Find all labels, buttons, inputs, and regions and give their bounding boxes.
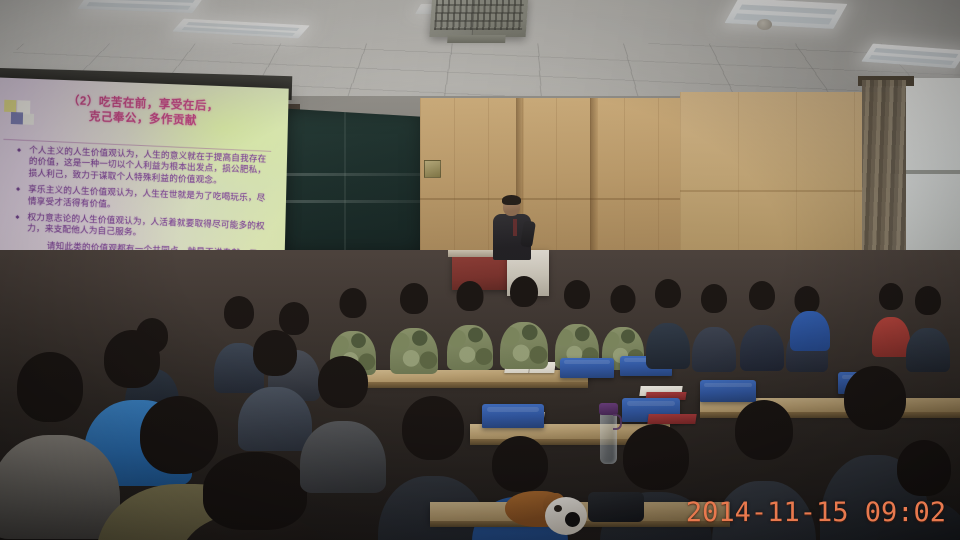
chair xyxy=(560,358,614,378)
student xyxy=(447,281,493,361)
student xyxy=(330,288,376,366)
student xyxy=(906,286,950,362)
student xyxy=(646,279,690,359)
blackboard xyxy=(276,108,424,256)
slide-bullet: 个人主义的人生价值观认为，人生的意义就在于提高自我存在的价值，这是一种一切以个人… xyxy=(14,144,271,188)
student xyxy=(390,283,438,365)
chair xyxy=(482,404,544,428)
student xyxy=(500,276,548,360)
lecturer xyxy=(489,197,535,259)
ceiling-projector xyxy=(430,0,529,37)
student xyxy=(740,281,784,361)
slide-corner-logo xyxy=(2,100,33,129)
folded-dark-garment xyxy=(588,492,644,522)
camera-timestamp: 2014-11-15 09:02 xyxy=(686,497,946,528)
chair xyxy=(700,380,756,402)
student xyxy=(555,280,599,360)
smoke-detector-icon xyxy=(757,19,772,30)
student-blue-jacket xyxy=(790,278,830,338)
slide-title-line-2: 克己奉公，多作贡献 xyxy=(10,107,276,132)
student-red-jacket xyxy=(872,283,910,345)
student xyxy=(602,285,644,361)
plush-dog-toy xyxy=(505,487,591,537)
student xyxy=(300,356,386,474)
student xyxy=(692,284,736,362)
slide-bullet: 享乐主义的人生价值观认为，人生在世就是为了吃喝玩乐，尽情享受才活得有价值。 xyxy=(14,183,270,216)
closed-book xyxy=(647,414,696,424)
slide-bullet: 权力意志论的人生价值观认为，人活着就要取得尽可能多的权力，来支配他人为自己服务。 xyxy=(13,211,269,244)
wall-mounted-box xyxy=(424,160,441,178)
slide-title: （2）吃苦在前，享受在后， 克己奉公，多作贡献 xyxy=(10,92,277,132)
lecture-hall-photo: （2）吃苦在前，享受在后， 克己奉公，多作贡献 个人主义的人生价值观认为，人生的… xyxy=(0,0,960,540)
